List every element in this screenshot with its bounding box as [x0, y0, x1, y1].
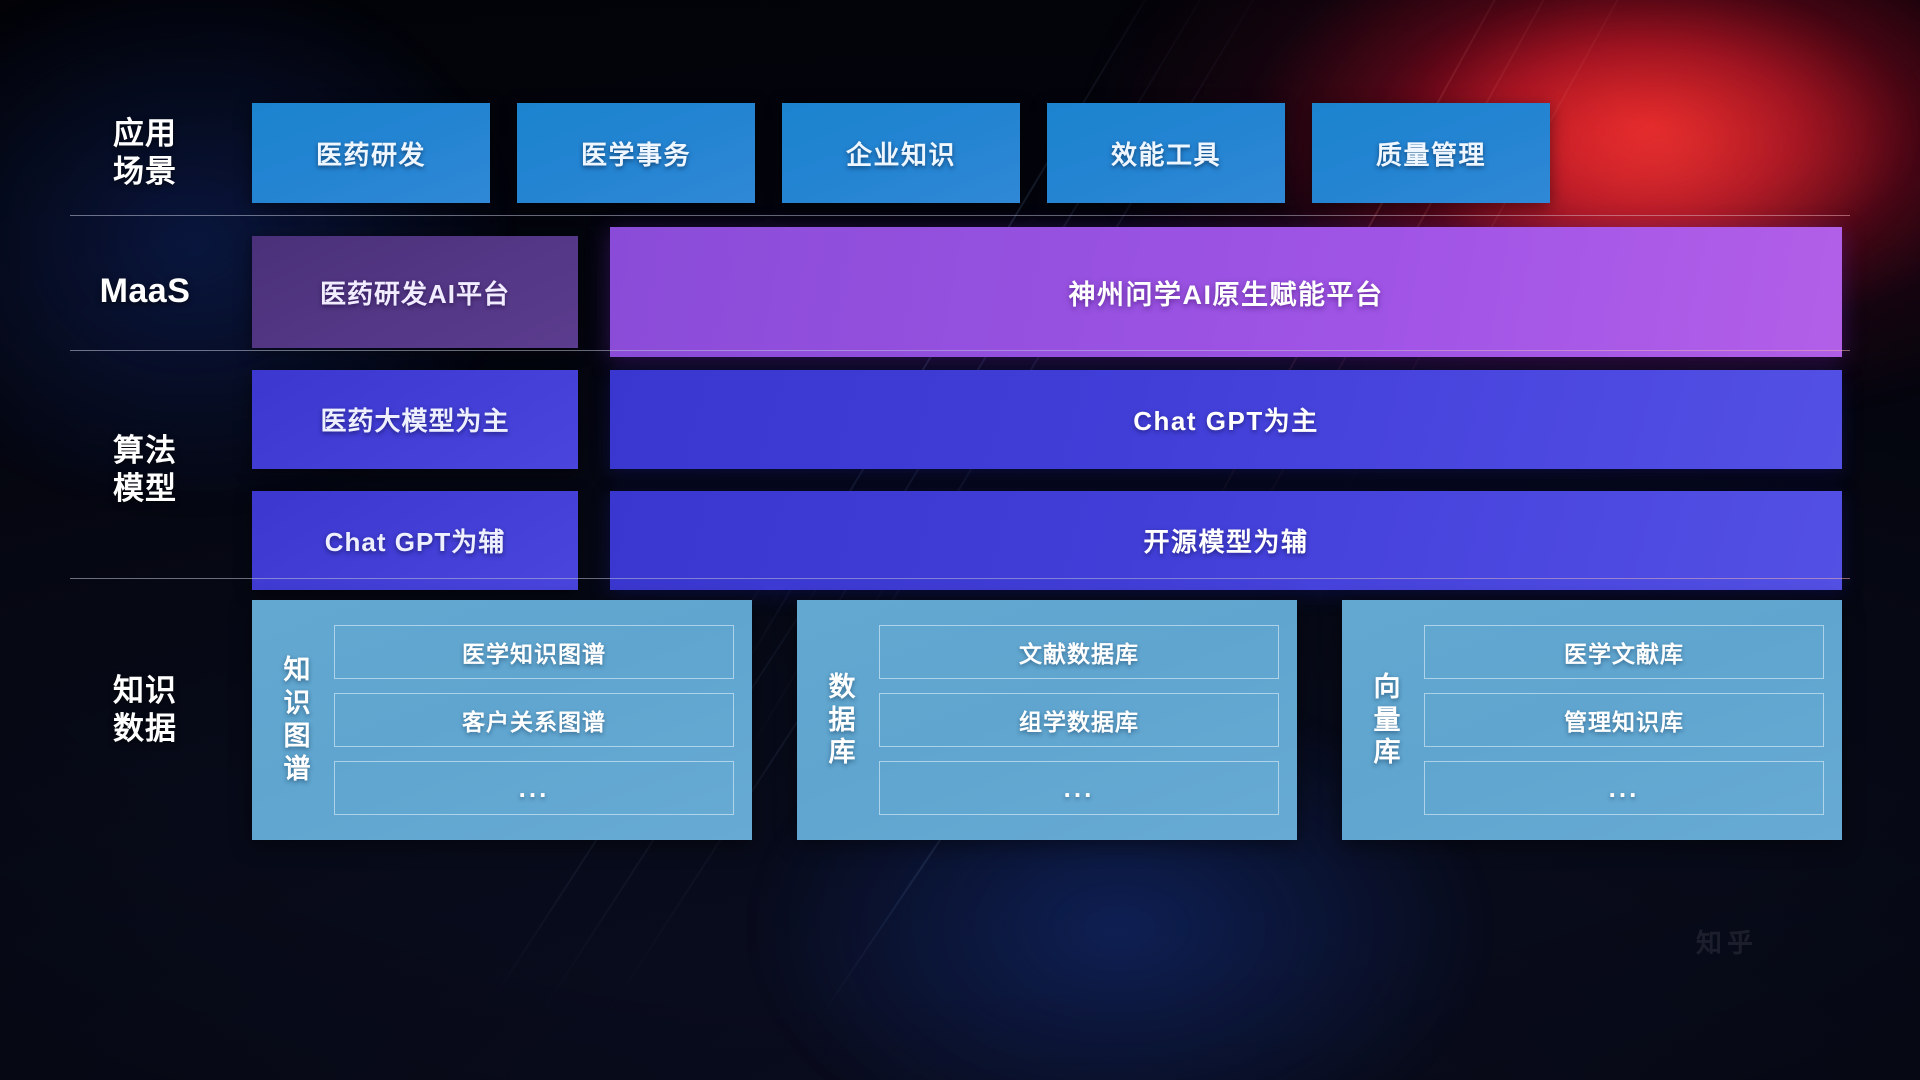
scenario-box-quality-management[interactable]: 质量管理 [1312, 103, 1550, 203]
title-char-2: 量 [1374, 704, 1401, 737]
title-char-1: 知 [284, 654, 311, 687]
knowledge-panel-title-database: 数 据 库 [811, 616, 873, 824]
knowledge-item-more[interactable]: ... [1424, 761, 1824, 815]
knowledge-panel-knowledge-graph[interactable]: 知 识 图 谱 医学知识图谱 客户关系图谱 ... [252, 600, 752, 840]
row-maas: MaaS 医药研发AI平台 神州问学AI原生赋能平台 [70, 227, 1842, 357]
title-char-2: 据 [829, 704, 856, 737]
title-char-3: 库 [1374, 736, 1401, 769]
knowledge-item-omics-database[interactable]: 组学数据库 [879, 693, 1279, 747]
algorithm-row-primary: 医药大模型为主 Chat GPT为主 [252, 370, 1842, 469]
knowledge-item-list: 文献数据库 组学数据库 ... [873, 616, 1279, 824]
maas-box-group: 医药研发AI平台 神州问学AI原生赋能平台 [252, 227, 1842, 357]
scenario-box-enterprise-knowledge[interactable]: 企业知识 [782, 103, 1020, 203]
knowledge-panel-database[interactable]: 数 据 库 文献数据库 组学数据库 ... [797, 600, 1297, 840]
knowledge-panel-vector-store[interactable]: 向 量 库 医学文献库 管理知识库 ... [1342, 600, 1842, 840]
algorithm-box-group: 医药大模型为主 Chat GPT为主 Chat GPT为辅 开源模型为辅 [252, 370, 1842, 590]
row-label-line-2: 场景 [70, 153, 220, 191]
title-char-1: 向 [1374, 671, 1401, 704]
row-label-line-1: 知识 [70, 672, 220, 710]
knowledge-panel-title-knowledge-graph: 知 识 图 谱 [266, 616, 328, 824]
knowledge-panel-title-vector-store: 向 量 库 [1356, 616, 1418, 824]
row-label-knowledge-data: 知识 数据 [70, 600, 220, 748]
knowledge-item-medical-literature-store[interactable]: 医学文献库 [1424, 625, 1824, 679]
title-char-3: 图 [284, 720, 311, 753]
maas-box-drug-rd-ai-platform[interactable]: 医药研发AI平台 [252, 236, 578, 348]
title-char-4: 谱 [284, 753, 311, 786]
row-algorithm-model: 算法 模型 医药大模型为主 Chat GPT为主 Chat GPT为辅 开源模型… [70, 370, 1842, 590]
scenario-box-medical-affairs[interactable]: 医学事务 [517, 103, 755, 203]
row-label-line-1: 应用 [70, 115, 220, 153]
algorithm-box-chatgpt-primary[interactable]: Chat GPT为主 [610, 370, 1842, 469]
knowledge-item-customer-relation-graph[interactable]: 客户关系图谱 [334, 693, 734, 747]
knowledge-item-list: 医学文献库 管理知识库 ... [1418, 616, 1824, 824]
knowledge-item-medical-knowledge-graph[interactable]: 医学知识图谱 [334, 625, 734, 679]
watermark: 知乎 [1696, 923, 1758, 960]
divider-1 [70, 215, 1850, 216]
maas-box-shenzhou-wenxue-platform[interactable]: 神州问学AI原生赋能平台 [610, 227, 1842, 357]
algorithm-box-opensource-secondary[interactable]: 开源模型为辅 [610, 491, 1842, 590]
knowledge-item-more[interactable]: ... [879, 761, 1279, 815]
row-label-maas: MaaS [70, 271, 220, 312]
row-label-line-2: 模型 [70, 470, 220, 508]
divider-3 [70, 578, 1850, 579]
slide-canvas: 应用 场景 医药研发 医学事务 企业知识 效能工具 质量管理 MaaS 医药研发… [0, 0, 1920, 1080]
knowledge-item-more[interactable]: ... [334, 761, 734, 815]
scenario-box-efficiency-tools[interactable]: 效能工具 [1047, 103, 1285, 203]
row-label-algorithm-model: 算法 模型 [70, 370, 220, 508]
row-label-line-1: 算法 [70, 432, 220, 470]
row-label-line-2: 数据 [70, 710, 220, 748]
title-char-2: 识 [284, 687, 311, 720]
divider-2 [70, 350, 1850, 351]
algorithm-box-chatgpt-secondary[interactable]: Chat GPT为辅 [252, 491, 578, 590]
scenario-box-drug-rd[interactable]: 医药研发 [252, 103, 490, 203]
title-char-1: 数 [829, 671, 856, 704]
algorithm-row-secondary: Chat GPT为辅 开源模型为辅 [252, 491, 1842, 590]
knowledge-item-literature-database[interactable]: 文献数据库 [879, 625, 1279, 679]
row-knowledge-data: 知识 数据 知 识 图 谱 医学知识图谱 客户关系图谱 ... [70, 600, 1842, 840]
scenario-box-group: 医药研发 医学事务 企业知识 效能工具 质量管理 [252, 103, 1550, 203]
knowledge-item-management-knowledge-store[interactable]: 管理知识库 [1424, 693, 1824, 747]
row-label-application-scenarios: 应用 场景 [70, 115, 220, 191]
knowledge-item-list: 医学知识图谱 客户关系图谱 ... [328, 616, 734, 824]
row-application-scenarios: 应用 场景 医药研发 医学事务 企业知识 效能工具 质量管理 [70, 103, 1550, 203]
knowledge-panel-group: 知 识 图 谱 医学知识图谱 客户关系图谱 ... 数 据 [252, 600, 1842, 840]
algorithm-box-pharma-llm-primary[interactable]: 医药大模型为主 [252, 370, 578, 469]
title-char-3: 库 [829, 736, 856, 769]
architecture-diagram: 应用 场景 医药研发 医学事务 企业知识 效能工具 质量管理 MaaS 医药研发… [0, 0, 1920, 1080]
